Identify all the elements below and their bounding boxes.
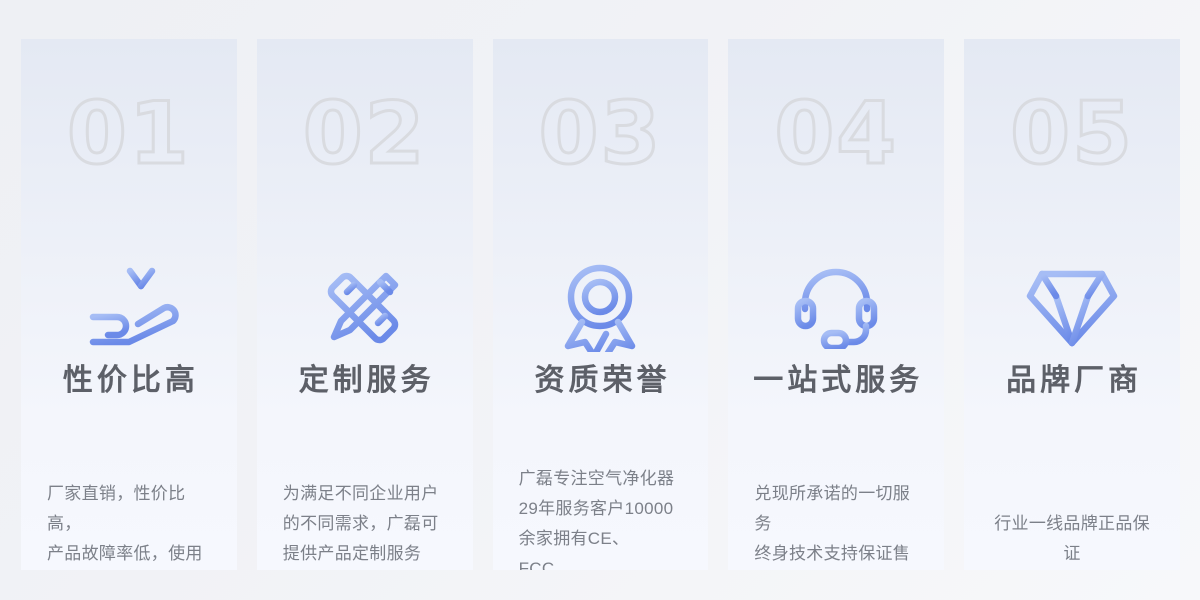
desc-line: 29年服务客户10000: [519, 494, 683, 524]
card-description-1: 厂家直销，性价比高， 产品故障率低，使用 寿命更长: [47, 479, 211, 570]
desc-line: 为满足不同企业用户: [283, 479, 447, 509]
card-number-01: 01: [21, 91, 237, 177]
desc-line: 广磊专注空气净化器: [519, 464, 683, 494]
hand-holding-yuan-icon: [21, 257, 237, 357]
desc-line: 兑现所承诺的一切服务: [754, 479, 918, 539]
feature-card-3[interactable]: 03 资质荣誉: [493, 39, 709, 570]
feature-card-4[interactable]: 04: [728, 39, 944, 570]
headset-icon: [728, 257, 944, 357]
desc-line: 厂家直销，性价比高，: [47, 479, 211, 539]
desc-line: 的不同需求，广磊可: [283, 509, 447, 539]
desc-line: 产品故障率低，使用: [47, 539, 211, 569]
card-description-2: 为满足不同企业用户 的不同需求，广磊可 提供产品定制服务: [283, 479, 447, 569]
feature-card-list: 01: [21, 39, 1180, 570]
diamond-icon: [964, 257, 1180, 357]
card-title-3: 资质荣誉: [493, 361, 709, 400]
desc-line: 余家拥有CE、FCC、: [519, 524, 683, 570]
card-title-2: 定制服务: [257, 361, 473, 400]
card-description-5: 行业一线品牌正品保证: [990, 509, 1154, 569]
card-number-05: 05: [964, 91, 1180, 177]
desc-line: 寿命更长: [47, 569, 211, 570]
feature-card-1[interactable]: 01: [21, 39, 237, 570]
card-title-5: 品牌厂商: [964, 361, 1180, 400]
feature-card-5[interactable]: 05: [964, 39, 1180, 570]
card-number-03: 03: [493, 91, 709, 177]
card-number-04: 04: [728, 91, 944, 177]
award-ribbon-icon: [493, 257, 709, 357]
feature-card-2[interactable]: 02: [257, 39, 473, 570]
card-number-02: 02: [257, 91, 473, 177]
feature-highlights-banner: 01: [0, 0, 1200, 600]
desc-line: 行业一线品牌正品保证: [990, 509, 1154, 569]
card-title-1: 性价比高: [21, 361, 237, 400]
card-title-4: 一站式服务: [728, 361, 944, 400]
card-description-4: 兑现所承诺的一切服务 终身技术支持保证售后 无忧: [754, 479, 918, 570]
card-description-3: 广磊专注空气净化器 29年服务客户10000 余家拥有CE、FCC、 ETL等各…: [519, 464, 683, 570]
pencil-ruler-icon: [257, 257, 473, 357]
desc-line: 终身技术支持保证售后: [754, 539, 918, 570]
desc-line: 提供产品定制服务: [283, 539, 447, 569]
